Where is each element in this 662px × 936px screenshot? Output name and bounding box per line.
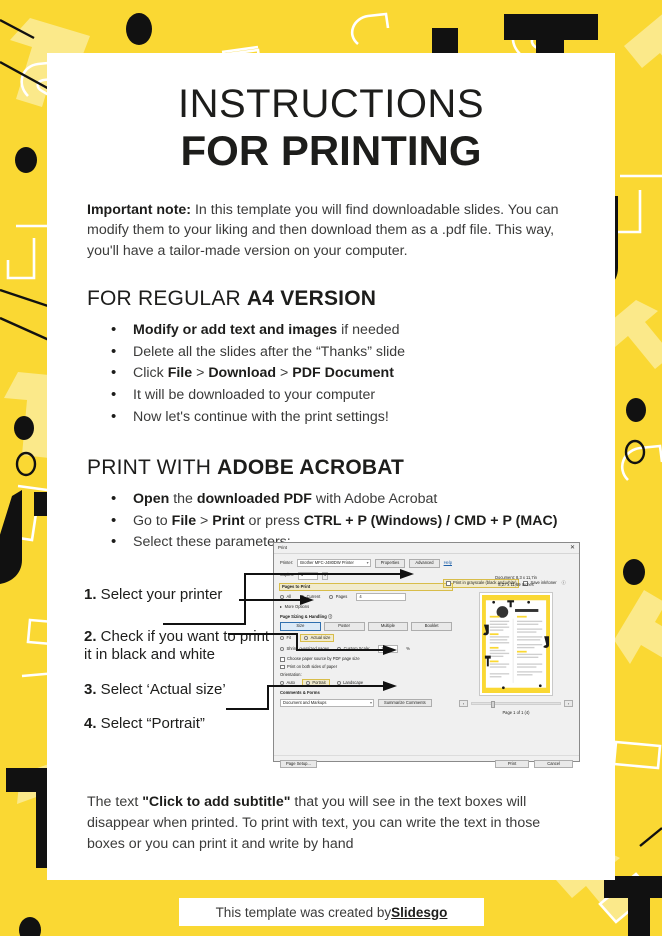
document-size: 8,27 x 11,69 Inches xyxy=(459,583,573,587)
bullet-text: Select these parameters: xyxy=(133,534,291,550)
thumbnail-graphic xyxy=(482,595,550,693)
annotation-4-number: 4. xyxy=(84,715,97,732)
radio-icon[interactable] xyxy=(304,636,308,640)
radio-icon[interactable] xyxy=(337,681,341,685)
orientation-landscape-option[interactable]: Landscape xyxy=(337,681,364,685)
bullet-sep: > xyxy=(196,513,212,529)
tab-poster[interactable]: Poster xyxy=(324,622,365,631)
shrink-label: Shrink oversized pages xyxy=(287,647,330,651)
section-acrobat-plain: PRINT WITH xyxy=(87,456,217,479)
bullet-bold: PDF Document xyxy=(292,365,394,381)
annotation-2-number: 2. xyxy=(84,628,97,645)
page-setup-button[interactable]: Page Setup... xyxy=(280,760,317,769)
list-item: Now let's continue with the print settin… xyxy=(111,407,575,429)
comments-row: Document and Markups ▾ Summarize Comment… xyxy=(280,699,452,708)
intro-paragraph: Important note: In this template you wil… xyxy=(87,200,575,262)
printer-label: Printer: xyxy=(280,561,293,565)
tab-multiple[interactable]: Multiple xyxy=(368,622,409,631)
page-title-line2: FOR PRINTING xyxy=(87,128,575,173)
printer-select-value: Brother MFC-J480DW Printer xyxy=(300,561,354,565)
orientation-title: Orientation: xyxy=(280,673,452,677)
advanced-button[interactable]: Advanced xyxy=(409,559,439,568)
actual-size-option[interactable]: Actual size xyxy=(301,635,333,641)
bullet-bold: Print xyxy=(212,513,244,529)
bullet-text: Delete all the slides after the “Thanks”… xyxy=(133,344,405,360)
footer-text: This template was created by xyxy=(216,905,392,920)
chevron-right-icon: ▸ xyxy=(280,605,282,609)
bottom-note-pre: The text xyxy=(87,794,142,810)
pages-range-input[interactable]: 4 xyxy=(356,593,406,601)
orientation-portrait-label: Portrait xyxy=(312,681,325,685)
radio-icon[interactable] xyxy=(306,681,310,685)
properties-button[interactable]: Properties xyxy=(375,559,406,568)
print-preview-pane: Document: 8,3 x 11,7in 8,27 x 11,69 Inch… xyxy=(459,576,573,715)
bullet-bold: Open xyxy=(133,491,169,507)
bottom-note: The text "Click to add subtitle" that yo… xyxy=(87,792,557,855)
list-item: It will be downloaded to your computer xyxy=(111,385,575,407)
print-dialog[interactable]: Print ✕ Printer: Brother MFC-J480DW Prin… xyxy=(273,542,580,762)
radio-icon[interactable] xyxy=(280,595,284,599)
annotation-3: 3. Select ‘Actual size’ xyxy=(84,681,226,699)
paper-source-option[interactable]: Choose paper source by PDF page size xyxy=(280,657,452,662)
document-label: Document: 8,3 x 11,7in xyxy=(459,576,573,580)
prev-page-button[interactable]: ‹ xyxy=(459,700,468,707)
print-button[interactable]: Print xyxy=(495,760,529,769)
close-icon[interactable]: ✕ xyxy=(570,545,575,551)
more-options-toggle[interactable]: ▸ More Options xyxy=(280,605,452,609)
fit-option[interactable]: Fit xyxy=(280,636,291,640)
bottom-note-quoted: "Click to add subtitle" xyxy=(142,794,290,810)
percent-label: % xyxy=(406,647,410,651)
tab-size[interactable]: Size xyxy=(280,622,321,631)
page-sizing-group: Page Sizing & Handling ⓘ Size Poster Mul… xyxy=(280,615,452,707)
annotation-4-text: Select “Portrait” xyxy=(97,715,205,732)
pages-current-option[interactable]: Current xyxy=(300,595,320,599)
bullet-sep: > xyxy=(192,365,208,381)
custom-scale-input[interactable]: 100 xyxy=(378,645,398,653)
radio-icon[interactable] xyxy=(280,636,284,640)
copies-label: Copies: xyxy=(280,573,294,577)
custom-scale-label: Custom Scale: xyxy=(344,647,371,651)
pages-all-label: All xyxy=(287,595,292,599)
list-item: Modify or add text and images if needed xyxy=(111,320,575,342)
comments-select-value: Document and Markups xyxy=(283,701,326,705)
checkbox-icon[interactable] xyxy=(280,657,285,662)
bullet-bold: Modify or add text and images xyxy=(133,322,337,338)
info-icon: ⓘ xyxy=(328,614,332,619)
bullet-text: Now let's continue with the print settin… xyxy=(133,409,389,425)
copies-stepper[interactable]: ⇅ xyxy=(322,572,328,580)
bullet-text: or press xyxy=(245,513,304,529)
both-sides-option[interactable]: Print on both sides of paper xyxy=(280,665,452,670)
pages-to-print-title: Pages to Print xyxy=(280,584,452,590)
section-acrobat-bold: ADOBE ACROBAT xyxy=(217,456,404,479)
annotation-1-text: Select your printer xyxy=(97,586,223,603)
intro-label: Important note: xyxy=(87,202,191,218)
page-sizing-title: Page Sizing & Handling ⓘ xyxy=(280,615,452,619)
orientation-row: Auto Portrait Landscape xyxy=(280,680,452,686)
custom-scale-option[interactable]: Custom Scale: xyxy=(337,647,370,651)
fit-row: Fit Actual size xyxy=(280,635,452,641)
annotation-3-number: 3. xyxy=(84,681,97,698)
annotation-2: 2. Check if you want to print it in blac… xyxy=(84,628,276,664)
pages-to-print-row: All Current Pages 4 xyxy=(280,593,452,601)
radio-icon[interactable] xyxy=(300,595,304,599)
annotation-4: 4. Select “Portrait” xyxy=(84,715,205,733)
pages-range-label: Pages xyxy=(336,595,348,599)
bullet-text: Click xyxy=(133,365,168,381)
scrollbar-thumb[interactable] xyxy=(491,701,495,708)
comments-select[interactable]: Document and Markups ▾ xyxy=(280,699,374,707)
bullet-text: the xyxy=(169,491,197,507)
checkbox-icon[interactable] xyxy=(446,581,451,586)
next-page-button[interactable]: › xyxy=(564,700,573,707)
help-link[interactable]: Help xyxy=(444,561,452,565)
pages-to-print-group: Pages to Print All Current Pages 4 ▸ Mor… xyxy=(280,584,452,609)
radio-icon[interactable] xyxy=(329,595,333,599)
orientation-auto-option[interactable]: Auto xyxy=(280,681,295,685)
copies-input[interactable]: 1 xyxy=(298,572,318,580)
bullet-text: Go to xyxy=(133,513,172,529)
page-sizing-title-text: Page Sizing & Handling xyxy=(280,614,327,619)
list-item: Click File > Download > PDF Document xyxy=(111,363,575,385)
a4-bullet-list: Modify or add text and images if needed … xyxy=(87,320,575,428)
annotation-2-text: Check if you want to print it in black a… xyxy=(84,628,269,663)
bullet-text: if needed xyxy=(337,322,399,338)
comments-forms-title: Comments & Forms xyxy=(280,691,452,695)
orientation-landscape-label: Landscape xyxy=(343,681,363,685)
slidesgo-link[interactable]: Slidesgo xyxy=(391,905,447,920)
footer-credit: This template was created by Slidesgo xyxy=(179,898,484,926)
list-item: Go to File > Print or press CTRL + P (Wi… xyxy=(111,511,575,533)
actual-size-label: Actual size xyxy=(311,636,331,640)
section-heading-a4: FOR REGULAR A4 VERSION xyxy=(87,287,575,311)
more-options-label: More Options xyxy=(285,605,310,609)
pages-current-label: Current xyxy=(307,595,321,599)
scale-row: Shrink oversized pages Custom Scale: 100… xyxy=(280,645,452,653)
section-a4-plain: FOR REGULAR xyxy=(87,287,247,310)
page-nav-row: ‹ › xyxy=(459,700,573,707)
both-sides-label: Print on both sides of paper xyxy=(287,665,337,669)
copies-row: Copies: 1 ⇅ xyxy=(280,572,452,580)
page-scrollbar[interactable] xyxy=(471,702,561,705)
annotation-3-text: Select ‘Actual size’ xyxy=(97,681,226,698)
annotation-1: 1. Select your printer xyxy=(84,586,222,604)
radio-icon[interactable] xyxy=(280,647,284,651)
annotation-1-number: 1. xyxy=(84,586,97,603)
printer-select[interactable]: Brother MFC-J480DW Printer ▾ xyxy=(297,559,370,567)
tab-booklet[interactable]: Booklet xyxy=(411,622,452,631)
section-heading-acrobat: PRINT WITH ADOBE ACROBAT xyxy=(87,456,575,480)
shrink-option[interactable]: Shrink oversized pages xyxy=(280,647,329,651)
list-item: Delete all the slides after the “Thanks”… xyxy=(111,342,575,364)
checkbox-icon[interactable] xyxy=(280,665,285,670)
sizing-tabs: Size Poster Multiple Booklet xyxy=(280,622,452,631)
bullet-bold: File xyxy=(172,513,196,529)
print-dialog-title: Print xyxy=(278,546,287,550)
bullet-bold: CTRL + P (Windows) / CMD + P (MAC) xyxy=(304,513,558,529)
bullet-text: It will be downloaded to your computer xyxy=(133,387,375,403)
page-counter: Page 1 of 1 (4) xyxy=(459,711,573,715)
page-thumbnail xyxy=(479,592,553,696)
print-dialog-footer: Page Setup... Print Cancel xyxy=(274,755,579,769)
print-settings-pane: Printer: Brother MFC-J480DW Printer ▾ Pr… xyxy=(280,559,452,580)
bullet-bold: Download xyxy=(208,365,276,381)
section-a4-bold: A4 VERSION xyxy=(247,287,376,310)
orientation-auto-label: Auto xyxy=(287,681,295,685)
pages-all-option[interactable]: All xyxy=(280,595,291,599)
chevron-down-icon: ▾ xyxy=(367,561,369,565)
bullet-bold: downloaded PDF xyxy=(197,491,312,507)
list-item: Open the downloaded PDF with Adobe Acrob… xyxy=(111,489,575,511)
print-dialog-titlebar: Print ✕ xyxy=(274,543,579,554)
cancel-button[interactable]: Cancel xyxy=(534,760,573,769)
summarize-comments-button[interactable]: Summarize Comments xyxy=(378,699,432,708)
fit-label: Fit xyxy=(287,636,292,640)
radio-icon[interactable] xyxy=(280,681,284,685)
bullet-text: with Adobe Acrobat xyxy=(312,491,437,507)
radio-icon[interactable] xyxy=(337,647,341,651)
printer-row: Printer: Brother MFC-J480DW Printer ▾ Pr… xyxy=(280,559,452,568)
bullet-bold: File xyxy=(168,365,192,381)
bullet-sep: > xyxy=(276,365,292,381)
pages-range-option[interactable]: Pages xyxy=(329,595,347,599)
orientation-portrait-option[interactable]: Portrait xyxy=(303,680,329,686)
page-title-line1: INSTRUCTIONS xyxy=(87,83,575,126)
chevron-down-icon: ▾ xyxy=(370,701,372,705)
paper-source-label: Choose paper source by PDF page size xyxy=(287,657,360,661)
